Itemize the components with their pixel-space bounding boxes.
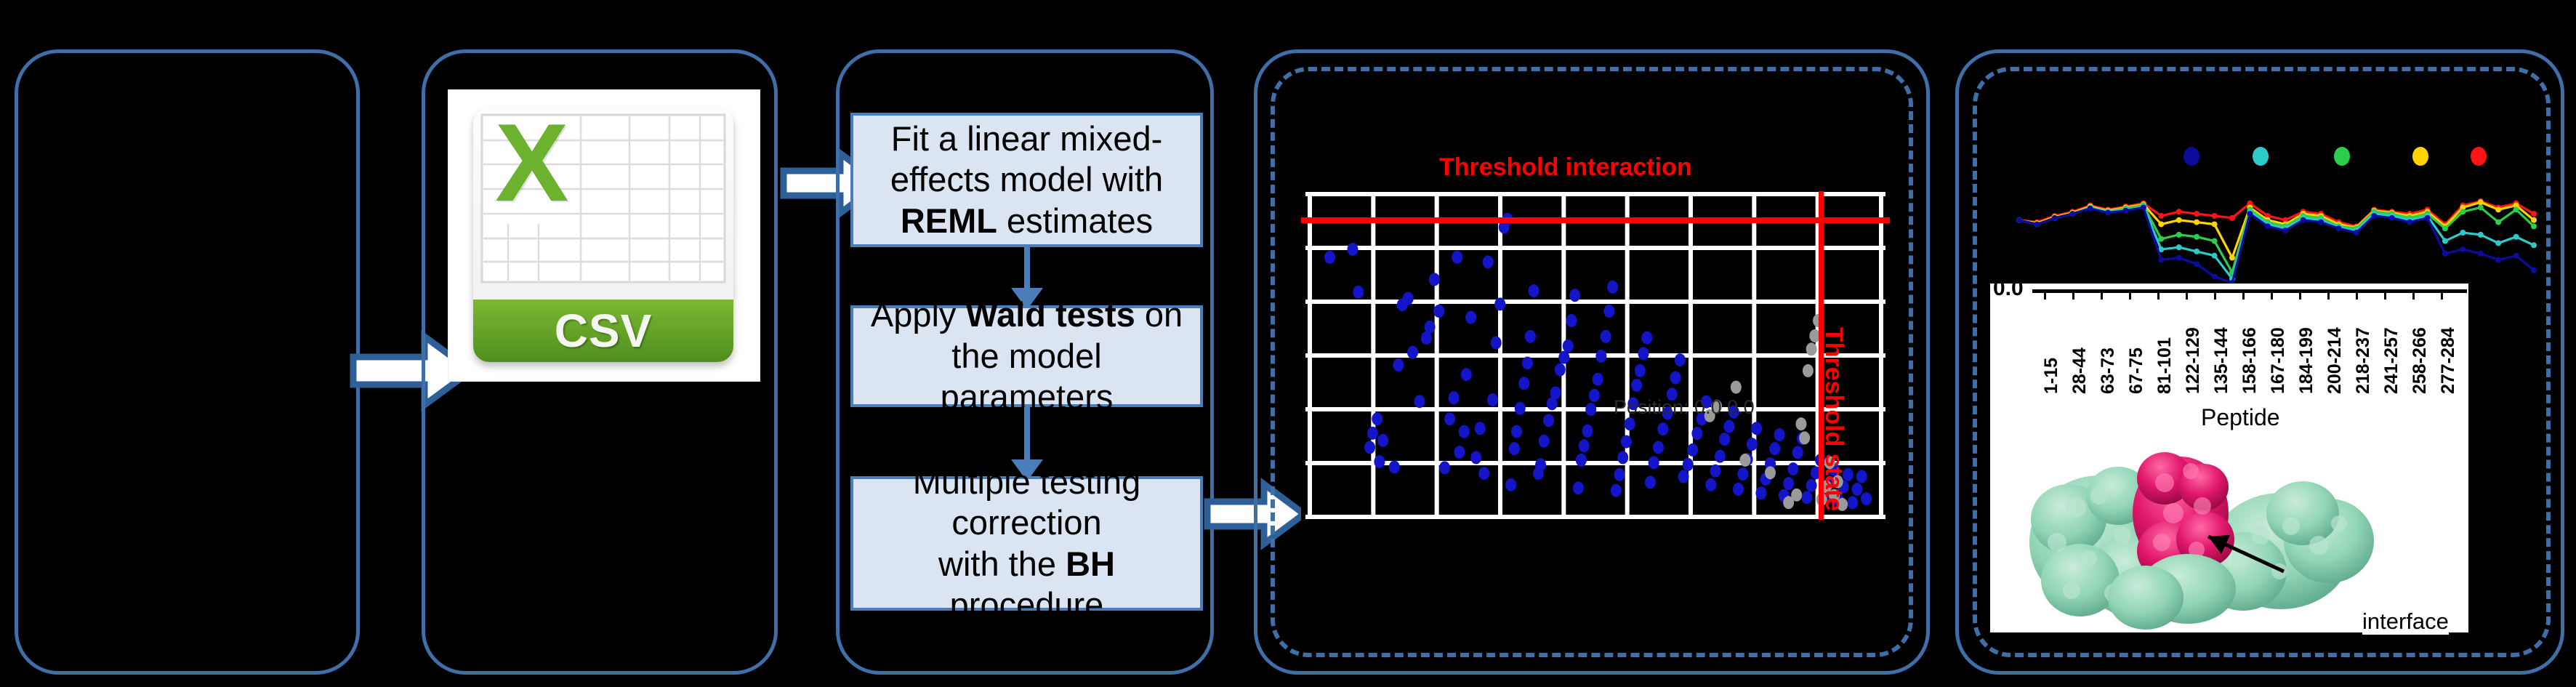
point-series-4 — [2158, 221, 2164, 227]
x-tick-mark — [2101, 291, 2103, 300]
binding-interface-label-line2: interface — [2362, 609, 2449, 635]
point-series-1 — [2371, 213, 2377, 219]
point-series-1 — [2034, 221, 2040, 227]
point-series-5 — [2212, 213, 2218, 219]
point-series-3 — [2531, 223, 2537, 229]
point-series-1 — [2069, 211, 2075, 217]
x-tick-158-166: 158-166 — [2239, 327, 2261, 394]
volcano-scatter-figure: Threshold interaction Position: 0.0 0.0 … — [1301, 156, 1890, 520]
x-tick-mark — [2186, 291, 2188, 300]
x-tick-mark — [2214, 291, 2216, 300]
step-bh-box[interactable]: Multiple testingcorrectionwith the BH pr… — [850, 476, 1203, 611]
point-series-4 — [2495, 206, 2501, 212]
point-series-5 — [2531, 211, 2537, 217]
point-series-2 — [2460, 230, 2466, 236]
point-series-3 — [2176, 232, 2182, 238]
point-series-4 — [2212, 221, 2218, 227]
point-series-1 — [2194, 261, 2199, 267]
x-tick-mark — [2384, 291, 2386, 300]
point-series-1 — [2442, 251, 2448, 257]
legend-dot-4 — [2412, 147, 2428, 166]
peptide-axis-plate: 0.0 1-1528-4463-7367-7581-101122-129135-… — [1990, 284, 2468, 632]
x-tick-mark — [2412, 291, 2415, 300]
step-model-box[interactable]: Fit a linear mixed-effects model withREM… — [850, 113, 1203, 247]
point-series-1 — [2088, 206, 2093, 212]
legend-dot-5 — [2471, 147, 2487, 166]
x-tick-184-199: 184-199 — [2296, 327, 2317, 394]
threshold-interaction-label: Threshold interaction — [1439, 153, 1692, 182]
point-series-1 — [2531, 268, 2537, 273]
connector-wald-to-bh — [1024, 407, 1030, 465]
csv-file-icon: X CSV — [473, 108, 733, 362]
point-series-1 — [2478, 251, 2484, 257]
x-tick-mark — [2242, 291, 2245, 300]
x-tick-277-284: 277-284 — [2438, 327, 2459, 394]
point-series-1 — [2141, 204, 2146, 210]
point-series-1 — [2460, 246, 2466, 252]
connector-model-to-wald — [1024, 247, 1030, 292]
point-series-2 — [2478, 232, 2484, 238]
point-series-3 — [2194, 234, 2199, 240]
x-tick-mark — [2271, 291, 2273, 300]
protein-surface-illustration — [1990, 426, 2468, 632]
step-wald-box[interactable]: Apply Wald tests onthe model parameters — [850, 305, 1203, 407]
point-series-2 — [2495, 240, 2501, 246]
point-series-1 — [2389, 215, 2395, 221]
x-tick-241-257: 241-257 — [2381, 327, 2402, 394]
point-series-1 — [2212, 273, 2218, 279]
csv-file-card: X CSV — [448, 90, 760, 381]
peptide-profile-lines — [2006, 173, 2544, 289]
point-series-1 — [2513, 253, 2519, 259]
step-model-text: Fit a linear mixed-effects model withREM… — [890, 118, 1163, 241]
legend-dot-2 — [2253, 147, 2269, 166]
x-tick-mark — [2299, 291, 2301, 300]
point-series-1 — [2318, 220, 2324, 225]
x-tick-122-129: 122-129 — [2183, 327, 2204, 394]
empty-stage-panel — [15, 49, 360, 675]
point-series-3 — [2460, 209, 2466, 214]
x-tick-28-44: 28-44 — [2069, 347, 2090, 394]
point-series-4 — [2531, 217, 2537, 223]
point-series-2 — [2212, 253, 2218, 259]
point-series-1 — [2016, 217, 2022, 223]
point-series-5 — [2176, 209, 2182, 214]
x-tick-mark — [2129, 291, 2131, 300]
x-tick-mark — [2157, 291, 2160, 300]
csv-format-label: CSV — [555, 304, 653, 358]
peptide-profile-legend — [2006, 144, 2544, 169]
x-tick-mark — [2356, 291, 2358, 300]
point-series-3 — [2478, 204, 2484, 210]
point-series-2 — [2531, 242, 2537, 248]
legend-dot-1 — [2183, 147, 2199, 166]
point-series-3 — [2513, 206, 2519, 212]
x-tick-81-101: 81-101 — [2154, 337, 2175, 394]
point-series-3 — [2158, 236, 2164, 242]
point-series-1 — [2105, 210, 2111, 216]
x-tick-200-214: 200-214 — [2325, 327, 2346, 394]
point-series-1 — [2354, 230, 2359, 236]
point-series-2 — [2176, 244, 2182, 250]
point-series-1 — [2301, 217, 2306, 223]
x-tick-218-237: 218-237 — [2353, 327, 2374, 394]
point-series-1 — [2335, 225, 2341, 231]
x-tick-mark — [2072, 291, 2074, 300]
point-series-1 — [2122, 208, 2128, 214]
point-series-1 — [2176, 255, 2182, 261]
x-tick-mark — [2441, 291, 2443, 300]
csv-format-band: CSV — [473, 300, 733, 362]
x-tick-67-75: 67-75 — [2126, 347, 2147, 394]
point-series-2 — [2442, 238, 2448, 244]
point-series-4 — [2176, 217, 2182, 223]
point-series-1 — [2052, 215, 2058, 221]
point-series-2 — [2194, 249, 2199, 254]
step-wald-text: Apply Wald tests onthe model parameters — [861, 294, 1193, 417]
point-series-1 — [2247, 211, 2253, 217]
point-series-5 — [2158, 213, 2164, 219]
threshold-state-label: Threshold state — [1819, 327, 1848, 511]
x-tick-mark — [2044, 291, 2046, 300]
flow-diagram-canvas: X CSV Fit a linear mixed-effects model w… — [0, 0, 2576, 687]
volcano-scatter-plot — [1301, 191, 1890, 555]
scatter-overlay-text: Position: 0.0 0.0 — [1614, 396, 1755, 419]
point-series-1 — [2407, 220, 2412, 225]
point-series-3 — [2442, 225, 2448, 231]
point-series-4 — [2194, 220, 2199, 225]
x-tick-258-266: 258-266 — [2410, 327, 2431, 394]
x-tick-1-15: 1-15 — [2041, 358, 2062, 394]
point-series-2 — [2513, 234, 2519, 240]
point-series-3 — [2495, 220, 2501, 225]
excel-x-glyph: X — [495, 118, 568, 209]
point-series-1 — [2282, 228, 2288, 233]
point-series-1 — [2495, 257, 2501, 262]
step-bh-text: Multiple testingcorrectionwith the BH pr… — [861, 462, 1193, 626]
legend-dot-3 — [2334, 147, 2350, 166]
point-series-3 — [2212, 238, 2218, 244]
point-series-4 — [2229, 255, 2235, 261]
peptide-profile-figure — [2006, 144, 2544, 289]
point-series-1 — [2425, 215, 2431, 221]
x-tick-mark — [2327, 291, 2330, 300]
x-tick-135-144: 135-144 — [2211, 327, 2232, 394]
point-series-5 — [2194, 211, 2199, 217]
point-series-1 — [2158, 257, 2164, 262]
point-series-1 — [2265, 223, 2271, 229]
x-tick-63-73: 63-73 — [2098, 347, 2119, 394]
point-series-4 — [2478, 199, 2484, 205]
point-series-5 — [2229, 215, 2235, 221]
x-tick-167-180: 167-180 — [2268, 327, 2289, 394]
